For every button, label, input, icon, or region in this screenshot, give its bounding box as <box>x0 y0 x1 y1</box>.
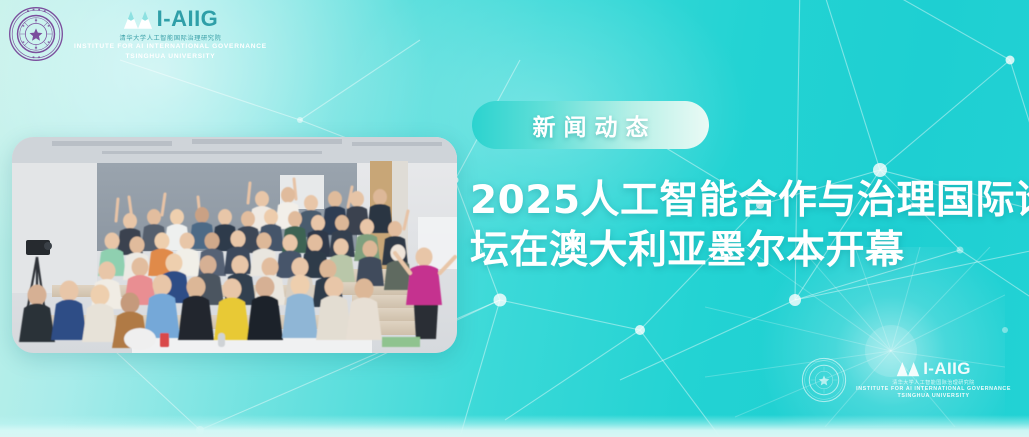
footer-aiig-english-line1: INSTITUTE FOR AI INTERNATIONAL GOVERNANC… <box>856 386 1011 393</box>
footer-brand-lockup[interactable]: I-AIIG 清华大学人工智能国际治理研究院 INSTITUTE FOR AI … <box>801 357 1011 403</box>
news-badge-label: 新闻动态 <box>525 108 657 142</box>
aiig-english-name-line2: TSINGHUA UNIVERSITY <box>126 53 216 62</box>
footer-aiig-mark: I-AIIG <box>896 360 971 377</box>
bottom-band <box>0 415 1029 437</box>
tsinghua-seal-icon <box>8 6 64 62</box>
footer-aiig-logo: I-AIIG 清华大学人工智能国际治理研究院 INSTITUTE FOR AI … <box>856 360 1011 401</box>
group-photo-image <box>12 137 457 353</box>
aiig-english-name-line1: INSTITUTE FOR AI INTERNATIONAL GOVERNANC… <box>74 43 267 52</box>
footer-aiig-english-line2: TSINGHUA UNIVERSITY <box>898 393 970 400</box>
brand-lockup[interactable]: I-AIIG 清华大学人工智能国际治理研究院 INSTITUTE FOR AI … <box>8 6 267 62</box>
tsinghua-seal-watermark-icon <box>801 357 847 403</box>
headline-line-2: 坛在澳大利亚墨尔本开幕 <box>470 226 1029 276</box>
aiig-mountain-watermark-icon <box>896 360 920 377</box>
aiig-mark: I-AIIG <box>123 8 219 30</box>
group-photo[interactable] <box>12 137 457 353</box>
news-banner: I-AIIG 清华大学人工智能国际治理研究院 INSTITUTE FOR AI … <box>0 0 1029 437</box>
headline-line-1: 2025人工智能合作与治理国际论 <box>470 176 1029 226</box>
aiig-logo: I-AIIG 清华大学人工智能国际治理研究院 INSTITUTE FOR AI … <box>74 6 267 62</box>
aiig-mountain-icon <box>123 8 153 30</box>
headline: 2025人工智能合作与治理国际论 坛在澳大利亚墨尔本开幕 <box>470 176 1029 276</box>
aiig-chinese-name: 清华大学人工智能国际治理研究院 <box>120 33 222 42</box>
footer-aiig-wordmark: I-AIIG <box>923 360 971 377</box>
news-badge[interactable]: 新闻动态 <box>472 101 709 149</box>
footer-aiig-chinese-name: 清华大学人工智能国际治理研究院 <box>892 379 975 386</box>
aiig-wordmark: I-AIIG <box>157 8 219 30</box>
